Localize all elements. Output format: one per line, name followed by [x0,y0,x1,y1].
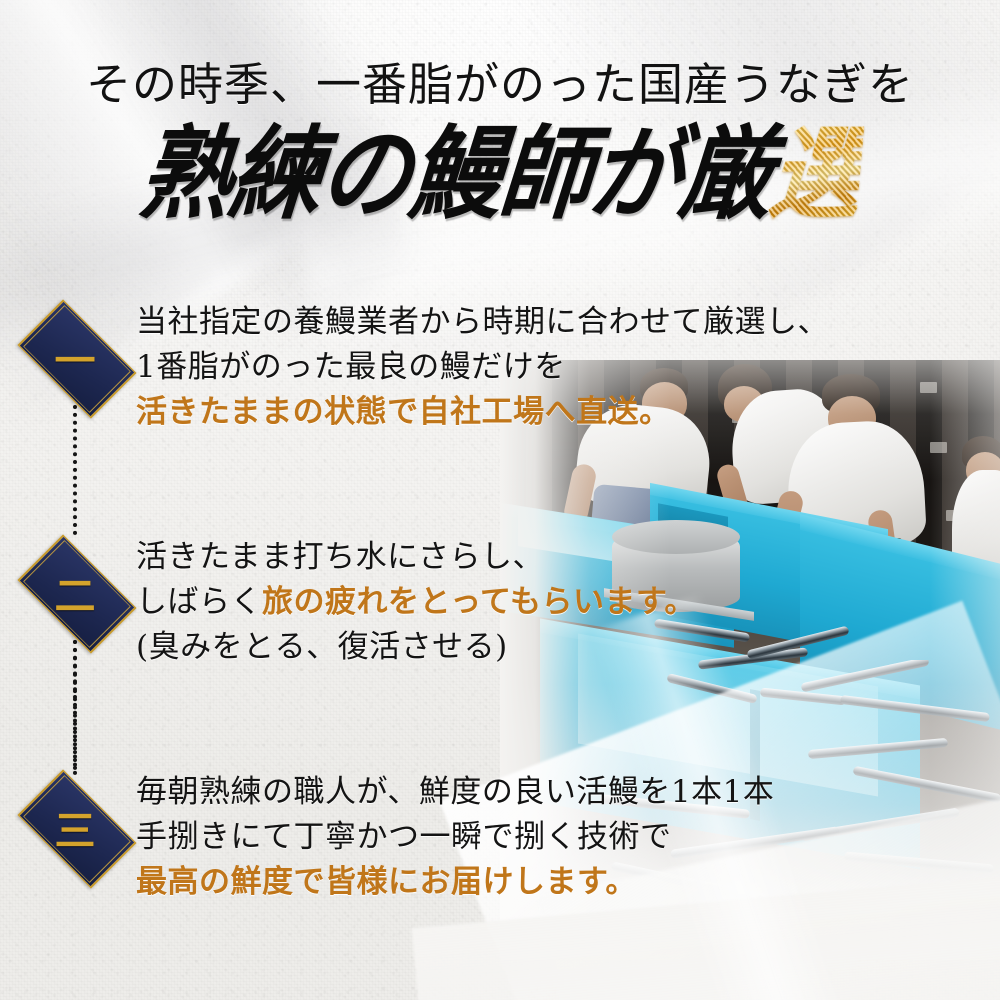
main-title-gold-char: 選 [766,123,865,224]
poster-canvas: その時季、一番脂がのった国産うなぎを 熟練の鰻師が厳選 一 当社指定の養鰻業者か… [0,0,1000,1000]
step-badge-two: 二 [18,535,132,649]
step-line-highlight: 最高の鮮度で皆様にお届けします。 [136,860,774,905]
main-title: 熟練の鰻師が厳選 [0,128,1000,220]
connector-dots [73,640,77,775]
step-two-text: 活きたまま打ち水にさらし、 しばらく旅の疲れをとってもらいます。 (臭みをとる、… [136,535,696,670]
step-line-highlight: 活きたままの状態で自社工場へ直送。 [136,390,829,435]
step-badge-one: 一 [18,300,132,414]
badge-number: 二 [18,535,132,649]
main-title-ink: 熟練の鰻師が厳 [136,123,775,224]
step-line: 毎朝熟練の職人が、鮮度の良い活鰻を1本1本 [136,770,774,815]
step-one-text: 当社指定の養鰻業者から時期に合わせて厳選し、 1番脂がのった最良の鰻だけを 活き… [136,300,829,435]
step-line: 活きたまま打ち水にさらし、 [136,535,696,580]
badge-number: 一 [18,300,132,414]
step-line: 1番脂がのった最良の鰻だけを [136,345,829,390]
step-line: 手捌きにて丁寧かつ一瞬で捌く技術で [136,815,774,860]
step-three-text: 毎朝熟練の職人が、鮮度の良い活鰻を1本1本 手捌きにて丁寧かつ一瞬で捌く技術で … [136,770,774,905]
headline: その時季、一番脂がのった国産うなぎを [0,62,1000,107]
step-line: (臭みをとる、復活させる) [136,625,696,670]
connector-dots [73,405,77,535]
badge-number: 三 [18,770,132,884]
step-line-mixed: しばらく旅の疲れをとってもらいます。 [136,580,696,625]
step-line-highlight-part: 旅の疲れをとってもらいます。 [262,584,696,620]
step-line-plain-part: しばらく [136,584,262,620]
step-line: 当社指定の養鰻業者から時期に合わせて厳選し、 [136,300,829,345]
step-badge-three: 三 [18,770,132,884]
